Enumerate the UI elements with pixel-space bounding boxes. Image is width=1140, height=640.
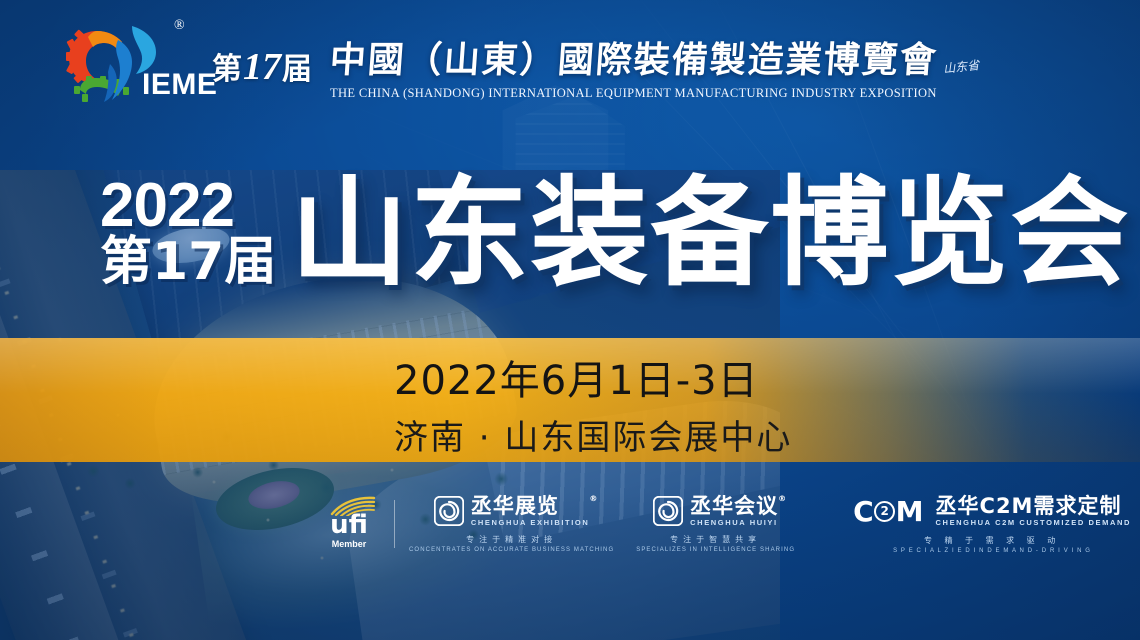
ieme-wordmark: IEME xyxy=(142,68,217,102)
ieme-logo: IEME ® xyxy=(56,18,206,114)
brand-name-cn: 丞华会议® xyxy=(690,495,778,517)
brand-name-cn-text: 丞华C2M需求定制 xyxy=(936,494,1122,518)
ufi-member-label: Member xyxy=(318,539,380,549)
brand-tagline-en: CONCENTRATES ON ACCURATE BUSINESS MATCHI… xyxy=(409,547,614,553)
footer-logo-strip: ufi Member 丞华展览® CHENGHUA EXHIBITION 专注于… xyxy=(318,492,1131,556)
brand-tagline-cn: 专注于精准对接 xyxy=(466,534,557,545)
brand-name-en: CHENGHUA EXHIBITION xyxy=(471,518,589,527)
brand-tagline-cn: 专注于智慧共享 xyxy=(670,534,761,545)
edition-number: 17 xyxy=(243,45,281,89)
title-year: 2022 xyxy=(100,177,276,236)
exhibition-poster: IEME ® 第 17 届 中國（山東）國際裝備製造業博覽會 山东省 THE C… xyxy=(0,0,1140,640)
brand-tagline-cn: 专 精 于 需 求 驱 动 xyxy=(924,535,1060,546)
registered-mark: ® xyxy=(174,18,185,34)
event-venue: 济南 · 山东国际会展中心 xyxy=(394,410,1034,459)
brand-name-cn-text: 丞华会议 xyxy=(690,494,778,518)
ufi-wordmark: ufi xyxy=(318,512,380,538)
poster-title-zone: 2022 第17届 山东装备博览会 xyxy=(100,160,1090,305)
spiral-icon xyxy=(653,496,683,526)
brand-chenghua-c2m: C 2 M 丞华C2M需求定制 CHENGHUA C2M CUSTOMIZED … xyxy=(853,495,1131,554)
edition-label: 第 17 届 xyxy=(212,44,312,89)
event-name-block: 中國（山東）國際裝備製造業博覽會 山东省 THE CHINA (SHANDONG… xyxy=(330,31,980,101)
brand-registered-mark: ® xyxy=(589,495,598,503)
poster-main-title: 山东装备博览会 xyxy=(290,174,1130,292)
poster-header: IEME ® 第 17 届 中國（山東）國際裝備製造業博覽會 山东省 THE C… xyxy=(0,0,1140,132)
event-date: 2022年6月1日-3日 xyxy=(394,348,1034,406)
event-name-english: THE CHINA (SHANDONG) INTERNATIONAL EQUIP… xyxy=(330,86,980,101)
brand-registered-mark: ® xyxy=(778,495,787,503)
spiral-icon xyxy=(434,496,464,526)
brand-tagline-en: SPECIALIZES IN INTELLIGENCE SHARING xyxy=(636,547,795,553)
edition-suffix: 届 xyxy=(282,44,312,88)
title-edition: 第17届 xyxy=(100,238,276,287)
brand-tagline-en: S P E C I A L Z I E D I N D E M A N D - … xyxy=(893,548,1091,554)
event-details: 2022年6月1日-3日 济南 · 山东国际会展中心 xyxy=(394,348,1034,459)
calligraphy-signature: 山东省 xyxy=(942,56,980,77)
event-name-chinese: 中國（山東）國際裝備製造業博覽會 xyxy=(328,31,940,83)
footer-divider xyxy=(394,500,395,548)
brand-name-cn-text: 丞华展览 xyxy=(471,494,559,518)
brand-chenghua-exhibition: 丞华展览® CHENGHUA EXHIBITION 专注于精准对接 CONCEN… xyxy=(409,495,614,553)
c2m-logo-mark: C 2 M xyxy=(853,495,922,528)
c2m-circle-2: 2 xyxy=(874,501,895,522)
brand-name-cn: 丞华展览® xyxy=(471,495,589,517)
year-edition-block: 2022 第17届 xyxy=(100,177,276,287)
ufi-member-logo: ufi Member xyxy=(318,494,380,554)
c2m-letter-m: M xyxy=(896,495,923,528)
brand-chenghua-huiyi: 丞华会议® CHENGHUA HUIYI 专注于智慧共享 SPECIALIZES… xyxy=(636,495,795,553)
brand-name-cn: 丞华C2M需求定制 xyxy=(936,495,1132,517)
brand-name-en: CHENGHUA C2M CUSTOMIZED DEMAND xyxy=(936,518,1132,527)
c2m-letter-c: C xyxy=(853,495,873,528)
brand-name-en: CHENGHUA HUIYI xyxy=(690,518,778,527)
